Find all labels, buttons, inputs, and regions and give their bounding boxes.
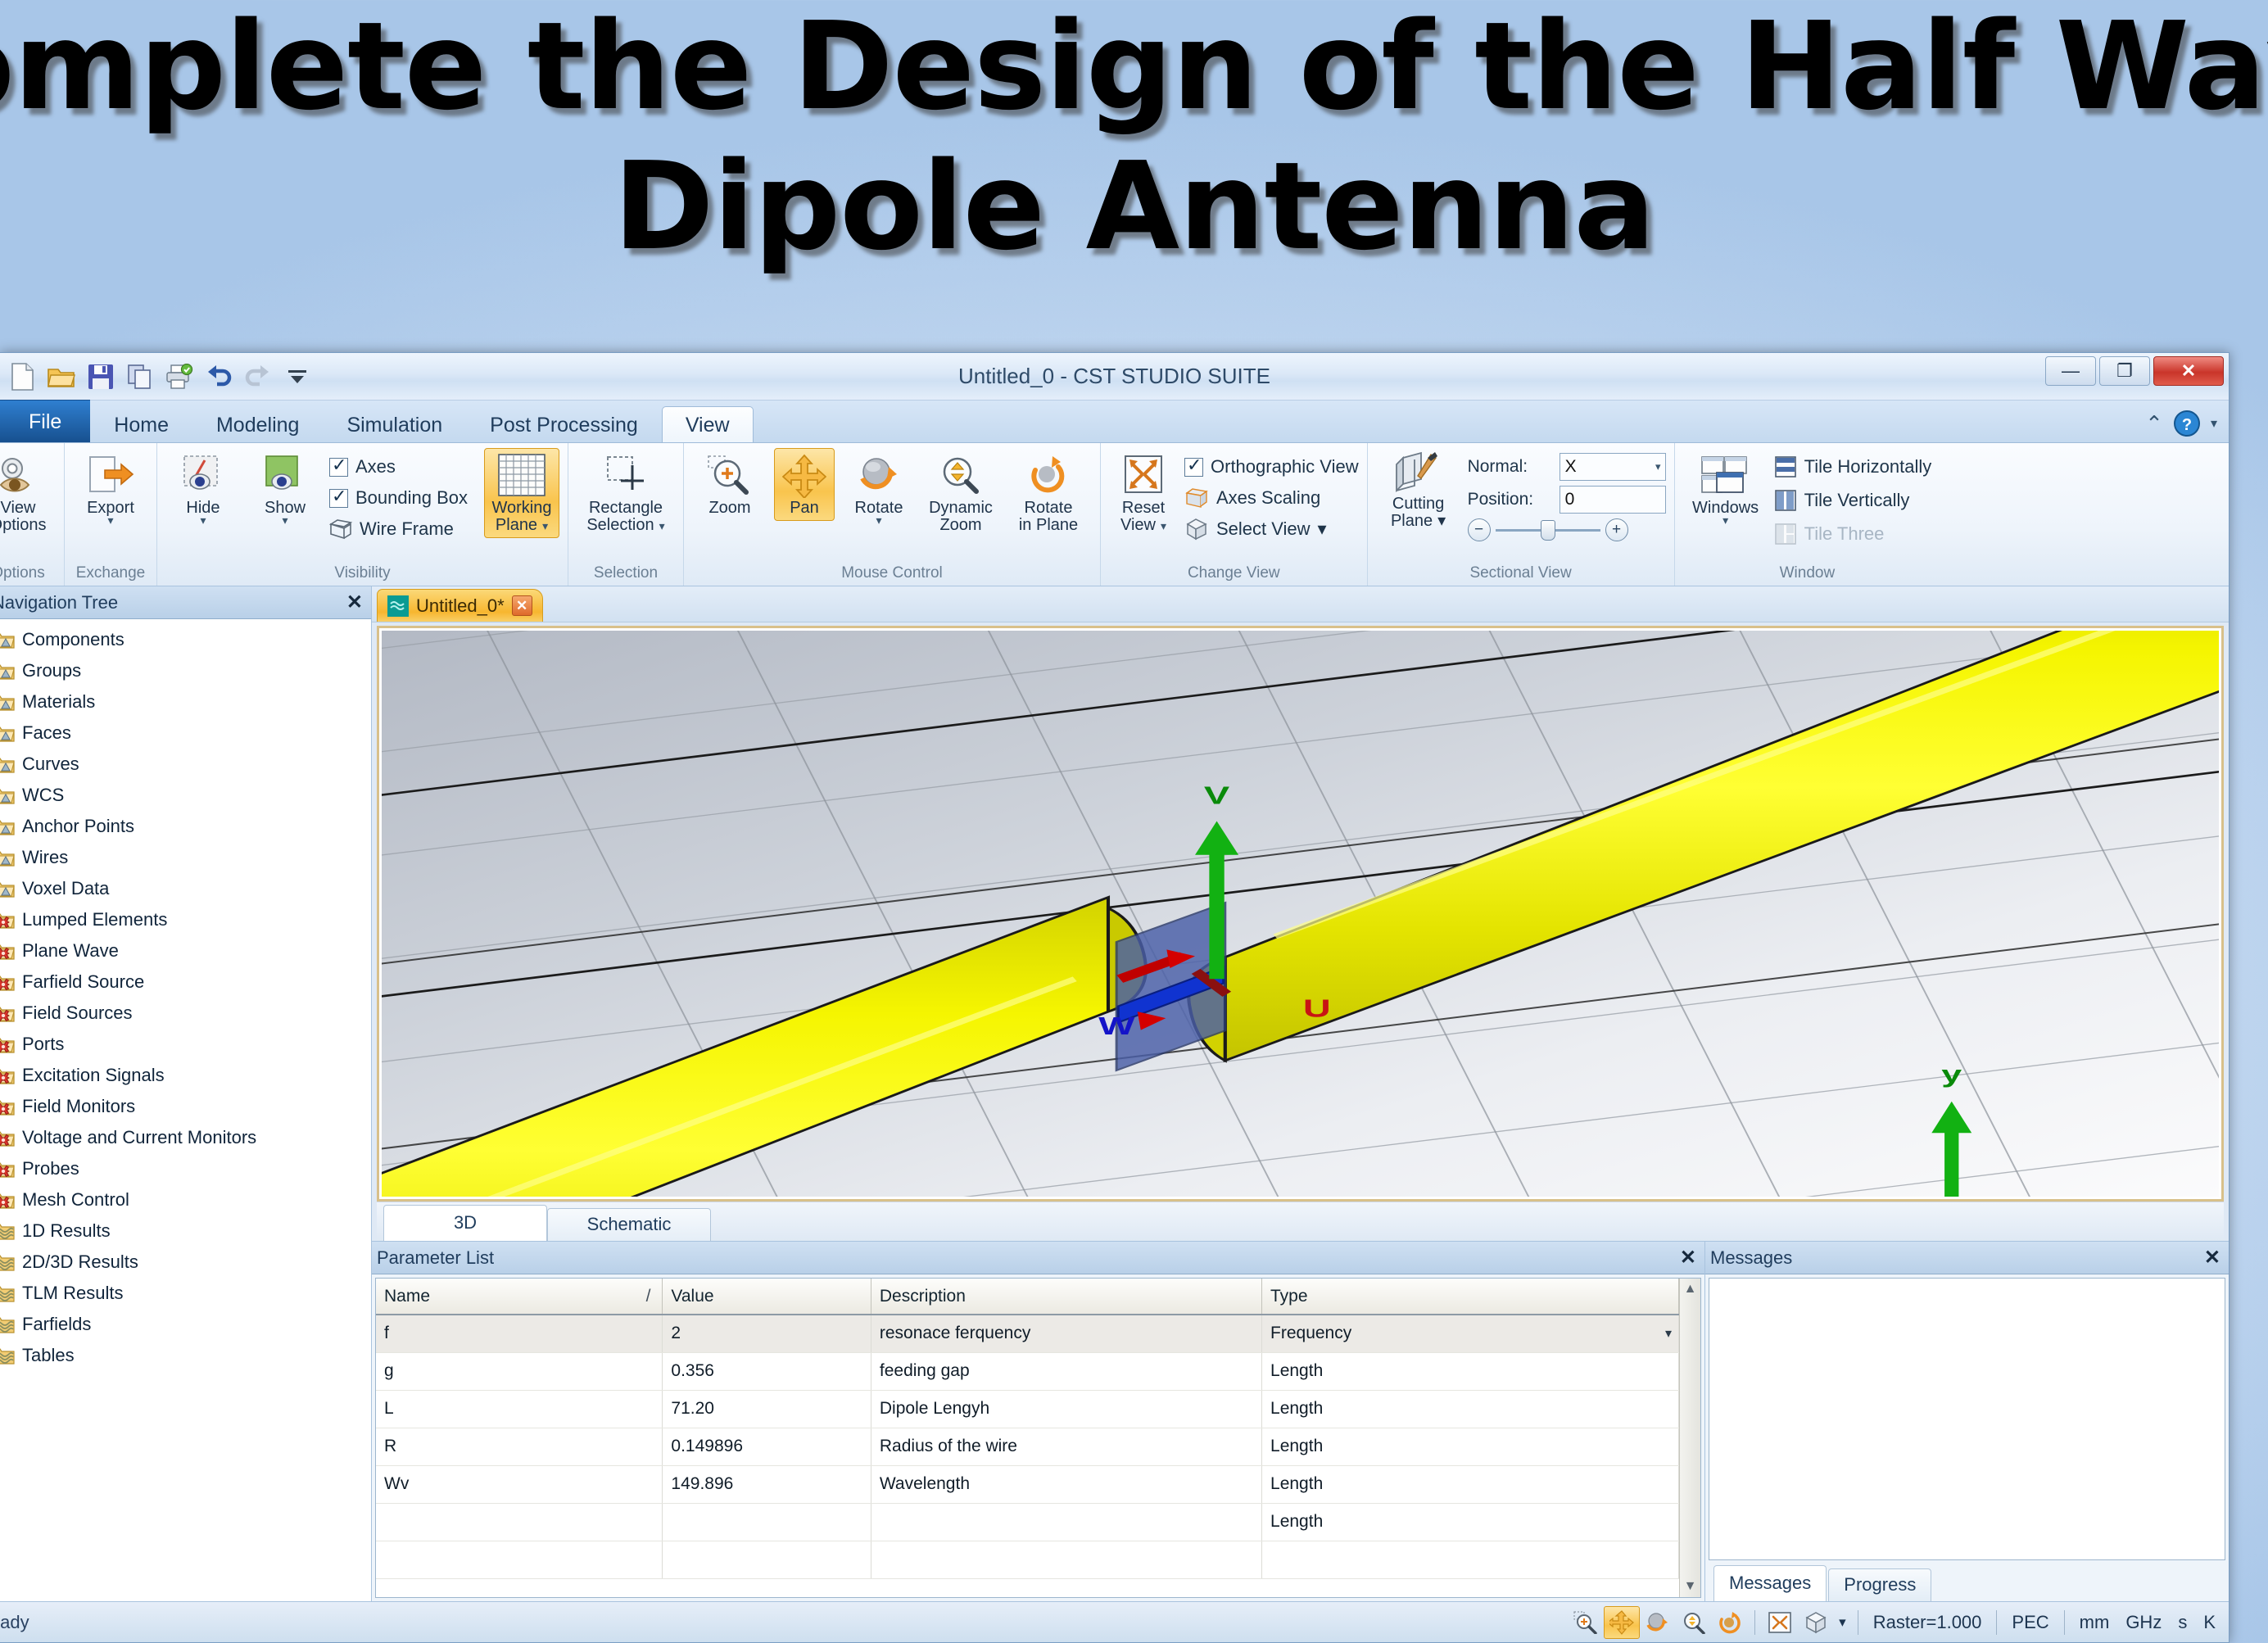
folder-icon [0,786,15,805]
gear-icon [0,911,15,930]
scroll-up-icon[interactable]: ▲ [1684,1279,1697,1300]
tree-item-farfield-source[interactable]: Farfield Source [0,966,371,998]
collapse-ribbon-icon[interactable]: ⌃ [2145,411,2163,437]
parameter-name-cell[interactable] [376,1541,663,1578]
ribbon-group-window: Windows ▾ Tile Horizontally Tile [1674,443,1940,586]
document-tab-untitled-0[interactable]: Untitled_0* ✕ [377,589,543,622]
parameter-type-cell[interactable] [1262,1541,1679,1578]
help-dropdown-icon[interactable]: ▾ [2211,415,2217,432]
reset-view-label: Reset [1122,500,1165,517]
parameter-value-cell[interactable]: 0.356 [663,1352,871,1390]
navigation-tree-panel: Navigation Tree ✕ Components Groups Mate… [0,586,372,1601]
hide-caret-icon[interactable]: ▾ [200,517,206,523]
ribbon-group-options-label: Options [0,564,56,586]
reset-view-caret-icon[interactable]: ▾ [1161,523,1166,529]
table-row[interactable]: L71.20Dipole LengyhLength [376,1390,1679,1428]
navigation-tree-title: Navigation Tree [0,592,118,613]
slider-rail[interactable] [1496,529,1600,532]
tree-item-label: Excitation Signals [22,1065,165,1086]
ribbon-help-zone: ⌃ ? ▾ [2145,410,2217,437]
tree-item-farfields[interactable]: Farfields [0,1309,371,1340]
results-icon [0,1347,15,1365]
tree-item-label: Ports [22,1034,64,1055]
tree-item-label: Farfields [22,1314,91,1335]
rotate-in-plane-status-icon[interactable] [1712,1606,1748,1639]
progress-tab[interactable]: Progress [1828,1568,1931,1601]
parameter-description-cell[interactable]: Wavelength [871,1465,1261,1503]
parameter-name-cell[interactable]: g [376,1352,663,1390]
navigation-tree-close-icon[interactable]: ✕ [346,591,363,614]
new-icon[interactable] [7,361,38,392]
document-tabbar: Untitled_0* ✕ [372,586,2229,622]
show-caret-icon[interactable]: ▾ [282,517,287,523]
folder-icon [0,755,15,774]
axis-label-y: y [1941,1061,1962,1088]
tree-item-label: Probes [22,1158,79,1179]
dynamic-zoom-icon [937,452,985,500]
gear-icon [0,1129,15,1147]
gear-icon [0,1035,15,1054]
parameter-value-cell[interactable]: 0.149896 [663,1428,871,1465]
main-area: Navigation Tree ✕ Components Groups Mate… [0,586,2229,1601]
column-header-description[interactable]: Description [871,1279,1261,1315]
document-tab-label: Untitled_0* [416,595,505,617]
window-titlebar: Untitled_0 - CST STUDIO SUITE — ❐ ✕ [0,353,2229,401]
view-options-label2: Options [0,517,46,534]
parameter-table-wrapper: Name / Value Description Type f2resonace… [375,1278,1701,1598]
customize-qat-icon[interactable] [282,361,313,392]
orthographic-view-label: Orthographic View [1211,456,1359,478]
tree-item-curves[interactable]: Curves [0,749,371,780]
rectangle-selection-label2: Selection [586,517,654,534]
status-material[interactable]: PEC [2003,1612,2057,1633]
parameter-description-cell[interactable]: Dipole Lengyh [871,1390,1261,1428]
parameter-name-cell[interactable]: R [376,1428,663,1465]
tree-item-components[interactable]: Components [0,624,371,655]
dynamic-zoom-button[interactable]: Dynamic Zoom [923,448,998,538]
table-row[interactable] [376,1541,1679,1578]
zoom-label: Zoom [708,500,750,517]
tree-item-label: 1D Results [22,1220,111,1242]
dynamic-zoom-status-icon[interactable] [1676,1606,1712,1639]
parameter-name-cell[interactable]: Wv [376,1465,663,1503]
folder-icon [0,662,15,681]
ribbon-view-tab: View Options Options Export ▾ [0,443,2229,586]
tree-item-label: Voxel Data [22,878,109,899]
tree-item-2d-3d-results[interactable]: 2D/3D Results [0,1247,371,1278]
scroll-down-icon[interactable]: ▼ [1684,1576,1697,1597]
change-view-check-column: Orthographic View Axes Scaling Select Vi… [1184,448,1359,545]
messages-body[interactable] [1709,1278,2225,1560]
tree-item-label: Farfield Source [22,971,144,993]
rotate-icon [856,452,902,500]
gear-icon [0,1004,15,1023]
parameter-value-cell[interactable]: 149.896 [663,1465,871,1503]
zoom-status-icon[interactable] [1568,1606,1604,1639]
table-row[interactable]: g0.356feeding gapLength [376,1352,1679,1390]
tree-item-voltage-and-current-monitors[interactable]: Voltage and Current Monitors [0,1122,371,1153]
tree-item-ports[interactable]: Ports [0,1029,371,1060]
view-options-label1: View [1,500,36,517]
parameter-name-cell[interactable]: L [376,1390,663,1428]
ribbon-tabbar: File Home Modeling Simulation Post Proce… [0,401,2229,443]
select-view-icon [1184,518,1209,541]
ribbon-group-options: View Options Options [0,443,64,586]
working-plane-label1: Working [492,500,552,517]
orthographic-view-checkbox[interactable] [1184,458,1203,477]
tree-item-probes[interactable]: Probes [0,1153,371,1184]
pan-icon [782,452,826,500]
zoom-icon [706,452,754,500]
working-plane-button[interactable]: Working Plane ▾ [484,448,559,538]
parameter-value-cell[interactable] [663,1541,871,1578]
tile-vertically-icon [1775,490,1796,511]
reset-view-icon [1120,452,1166,500]
tab-file[interactable]: File [0,400,90,442]
ribbon-group-change-view-label: Change View [1109,564,1359,586]
tile-horizontally-row[interactable]: Tile Horizontally [1775,451,1932,482]
status-dropdown-icon[interactable]: ▾ [1834,1614,1851,1631]
parameter-value-cell[interactable]: 71.20 [663,1390,871,1428]
select-view-row[interactable]: Select View ▾ [1184,514,1359,545]
tree-item-wires[interactable]: Wires [0,842,371,873]
parameter-description-cell[interactable]: feeding gap [871,1352,1261,1390]
tree-item-field-monitors[interactable]: Field Monitors [0,1091,371,1122]
show-icon [262,452,308,500]
messages-title: Messages [1710,1247,1792,1269]
windows-button[interactable]: Windows ▾ [1683,448,1768,527]
ribbon-group-window-label: Window [1683,564,1932,586]
hide-icon [180,452,226,500]
close-button[interactable]: ✕ [2153,356,2224,386]
slider-minus-button[interactable]: − [1468,518,1491,541]
ribbon-group-change-view: Reset View ▾ Orthographic View [1100,443,1367,586]
tree-item-label: Mesh Control [22,1189,129,1211]
tree-item-label: Anchor Points [22,816,134,837]
visibility-check-column: Axes Bounding Box Wire Frame [329,448,468,545]
parameter-type-cell[interactable]: Length [1262,1390,1679,1428]
tab-modeling[interactable]: Modeling [192,406,323,442]
parameter-table-header-row: Name / Value Description Type [376,1279,1679,1315]
column-header-type[interactable]: Type [1262,1279,1679,1315]
pan-status-icon[interactable] [1604,1606,1640,1639]
parameter-description-cell[interactable] [871,1541,1261,1578]
tree-item-field-sources[interactable]: Field Sources [0,998,371,1029]
mode-tab-3d[interactable]: 3D [383,1205,547,1241]
table-row[interactable]: f2resonace ferquencyFrequency [376,1315,1679,1352]
normal-select[interactable]: X ▾ [1560,453,1666,481]
tree-item-label: Field Monitors [22,1096,135,1117]
folder-icon [0,817,15,836]
gear-icon [0,942,15,961]
rectangle-selection-button[interactable]: Rectangle Selection ▾ [577,448,675,538]
wire-frame-row[interactable]: Wire Frame [329,514,468,545]
tree-item-label: Voltage and Current Monitors [22,1127,256,1148]
tree-item-label: Materials [22,691,95,713]
tree-item-mesh-control[interactable]: Mesh Control [0,1184,371,1215]
svg-text:?: ? [2182,416,2192,434]
copy-icon[interactable] [124,361,156,392]
tile-vertically-row[interactable]: Tile Vertically [1775,485,1932,516]
axis-label-v: V [1204,781,1230,809]
tab-post-processing[interactable]: Post Processing [466,406,662,442]
axes-checkbox-row[interactable]: Axes [329,451,468,482]
normal-chevron-down-icon[interactable]: ▾ [1655,460,1661,473]
table-row[interactable]: Wv149.896WavelengthLength [376,1465,1679,1503]
export-button[interactable]: Export ▾ [73,448,148,527]
dipole-3d-scene: V W U y [382,631,2219,1197]
tree-item-tlm-results[interactable]: TLM Results [0,1278,371,1309]
slider-knob[interactable] [1541,520,1555,541]
folder-icon [0,849,15,867]
pan-label: Pan [790,500,819,517]
parameter-description-cell[interactable] [871,1503,1261,1541]
cutting-plane-caret-icon[interactable]: ▾ [1437,513,1446,530]
select-view-caret-icon[interactable]: ▾ [1318,518,1327,540]
gear-icon [0,973,15,992]
reset-view-status-icon[interactable] [1762,1606,1798,1639]
parameter-name-cell[interactable] [376,1503,663,1541]
messages-tab[interactable]: Messages [1713,1565,1827,1601]
ribbon-group-selection-label: Selection [577,564,675,586]
folder-icon [0,880,15,898]
tab-home[interactable]: Home [90,406,192,442]
rectangle-selection-icon [603,452,649,500]
status-unit-frequency[interactable]: GHz [2117,1612,2170,1633]
table-row[interactable]: Length [376,1503,1679,1541]
normal-value: X [1565,457,1577,477]
messages-panel: Messages ✕ Messages Progress [1704,1242,2229,1601]
tree-item-label: Field Sources [22,1003,133,1024]
results-icon [0,1315,15,1334]
bounding-box-checkbox-row[interactable]: Bounding Box [329,482,468,514]
axes-label: Axes [355,456,396,478]
tree-item-label: 2D/3D Results [22,1251,138,1273]
tree-item-excitation-signals[interactable]: Excitation Signals [0,1060,371,1091]
restore-button[interactable]: ❐ [2099,356,2150,386]
export-caret-icon[interactable]: ▾ [107,517,113,523]
rotate-in-plane-label1: Rotate [1025,500,1073,517]
rotate-caret-icon[interactable]: ▾ [876,517,881,523]
tree-item-faces[interactable]: Faces [0,717,371,749]
minimize-button[interactable]: — [2045,356,2096,386]
tree-item-label: Plane Wave [22,940,119,962]
wireframe-icon [329,518,352,540]
status-bar-right: ▾ Raster=1.000 PEC mm GHz s K [1568,1606,2224,1639]
folder-icon [0,693,15,712]
ribbon-group-visibility: Hide ▾ Show ▾ [156,443,568,586]
reset-view-button[interactable]: Reset View ▾ [1109,448,1178,538]
folder-icon [0,724,15,743]
parameter-table: Name / Value Description Type f2resonace… [376,1279,1679,1579]
tree-item-anchor-points[interactable]: Anchor Points [0,811,371,842]
ribbon-group-mouse-control: Zoom Pan [683,443,1100,586]
tile-horizontally-label: Tile Horizontally [1804,456,1932,478]
normal-label: Normal: [1468,457,1553,477]
results-icon [0,1253,15,1272]
tree-item-materials[interactable]: Materials [0,686,371,717]
parameter-value-cell[interactable] [663,1503,871,1541]
ribbon-group-selection: Rectangle Selection ▾ Selection [568,443,683,586]
pan-button[interactable]: Pan [774,448,835,521]
ribbon-group-sectional-view: Cutting Plane ▾ Normal: X ▾ [1367,443,1674,586]
parameter-type-cell[interactable]: Length [1262,1352,1679,1390]
rotate-status-icon[interactable] [1640,1606,1676,1639]
save-icon[interactable] [85,361,116,392]
messages-close-icon[interactable]: ✕ [2204,1246,2220,1270]
working-plane-icon [496,452,548,500]
wire-frame-label: Wire Frame [360,518,454,540]
status-unit-time[interactable]: s [2170,1612,2195,1633]
tile-three-icon [1775,523,1796,545]
status-unit-length[interactable]: mm [2071,1612,2118,1633]
status-bar: Ready ▾ [0,1601,2229,1642]
viewport-3d[interactable]: V W U y [377,626,2224,1202]
gear-icon [0,1066,15,1085]
rectangle-selection-caret-icon[interactable]: ▾ [659,523,665,529]
slider-plus-button[interactable]: + [1605,518,1628,541]
help-icon[interactable]: ? [2173,410,2201,437]
tree-item-groups[interactable]: Groups [0,655,371,686]
tab-simulation[interactable]: Simulation [323,406,466,442]
redo-icon [242,361,274,392]
tree-item-wcs[interactable]: WCS [0,780,371,811]
parameter-type-cell[interactable]: Length [1262,1503,1679,1541]
window-title: Untitled_0 - CST STUDIO SUITE [0,364,2229,389]
rotate-in-plane-icon [1025,452,1071,500]
cutting-plane-icon [1393,448,1444,496]
tile-horizontally-icon [1775,456,1796,478]
center-area: Untitled_0* ✕ [372,586,2229,1601]
parameter-list-close-icon[interactable]: ✕ [1680,1246,1696,1270]
open-icon[interactable] [46,361,77,392]
mode-tab-schematic[interactable]: Schematic [547,1208,711,1241]
tree-item-lumped-elements[interactable]: Lumped Elements [0,904,371,935]
tree-item-label: WCS [22,785,64,806]
parameter-type-cell[interactable]: Length [1262,1428,1679,1465]
tree-item-label: Faces [22,722,71,744]
ribbon-group-sectional-view-label: Sectional View [1376,564,1666,586]
viewport-wrapper: V W U y [372,622,2229,1241]
axes-scaling-row[interactable]: Axes Scaling [1184,482,1359,514]
undo-icon[interactable] [203,361,234,392]
parameter-list-title: Parameter List [377,1247,494,1269]
parameter-type-cell[interactable]: Length [1262,1465,1679,1503]
table-row[interactable]: R0.149896Radius of the wireLength [376,1428,1679,1465]
print-icon[interactable] [164,361,195,392]
status-bar-divider-1 [1754,1610,1755,1635]
tile-vertically-label: Tile Vertically [1804,490,1910,511]
parameter-list-panel: Parameter List ✕ Name [372,1242,1704,1601]
bounding-box-label: Bounding Box [355,487,468,509]
parameter-table-scrollbar[interactable]: ▲ ▼ [1679,1279,1700,1597]
tree-item-tables[interactable]: Tables [0,1340,371,1371]
results-icon [0,1222,15,1241]
normal-field-row: Normal: X ▾ [1468,453,1666,481]
bounding-box-checkbox[interactable] [329,489,348,508]
slide-title-line2: Dipole Antenna [613,145,1655,269]
tree-item-label: Wires [22,847,68,868]
axes-scaling-icon [1184,487,1209,509]
parameter-name-cell[interactable]: f [376,1315,663,1352]
parameter-type-cell[interactable]: Frequency [1262,1315,1679,1352]
orthographic-view-row[interactable]: Orthographic View [1184,451,1359,482]
working-plane-caret-icon[interactable]: ▾ [542,523,548,529]
position-label: Position: [1468,490,1553,509]
cutting-plane-slider[interactable]: − + [1468,518,1666,541]
viewport-canvas[interactable]: V W U y [382,631,2219,1197]
position-value: 0 [1565,490,1575,509]
status-bar-divider-4 [2064,1610,2065,1635]
status-unit-temperature[interactable]: K [2195,1612,2224,1633]
reset-view-label2: View [1120,517,1156,534]
show-button[interactable]: Show ▾ [247,448,323,527]
zoom-button[interactable]: Zoom [692,448,767,521]
parameter-description-cell[interactable]: Radius of the wire [871,1428,1261,1465]
slide-title: Complete the Design of the Half Wave Dip… [0,0,2268,344]
window-controls: — ❐ ✕ [2045,356,2224,386]
cutting-plane-label2: Plane [1391,513,1433,530]
tree-item-label: Groups [22,660,81,681]
document-tab-close-icon[interactable]: ✕ [512,595,532,616]
quick-access-toolbar [0,361,313,392]
position-field-row: Position: 0 [1468,486,1666,514]
tree-item-plane-wave[interactable]: Plane Wave [0,935,371,966]
cst-studio-suite-window: Untitled_0 - CST STUDIO SUITE — ❐ ✕ File… [0,352,2230,1643]
navigation-tree-header: Navigation Tree ✕ [0,586,371,619]
tile-three-label: Tile Three [1804,523,1885,545]
ribbon-group-exchange: Export ▾ Exchange [64,443,156,586]
tree-item-1d-results[interactable]: 1D Results [0,1215,371,1247]
rectangle-selection-label1: Rectangle [589,500,663,517]
column-header-name[interactable]: Name / [376,1279,663,1315]
gear-icon [0,1098,15,1116]
tree-item-label: TLM Results [22,1283,123,1304]
status-bar-divider-3 [1996,1610,1997,1635]
select-view-status-icon[interactable] [1798,1606,1834,1639]
parameter-value-cell[interactable]: 2 [663,1315,871,1352]
view-options-button[interactable]: View Options [0,448,56,538]
parameter-description-cell[interactable]: resonace ferquency [871,1315,1261,1352]
ribbon-group-visibility-label: Visibility [165,564,559,586]
status-ready-text: Ready [0,1612,29,1633]
status-bar-divider-2 [1858,1610,1858,1635]
status-raster[interactable]: Raster=1.000 [1865,1612,1990,1633]
windows-caret-icon[interactable]: ▾ [1723,517,1728,523]
ribbon-group-exchange-label: Exchange [73,564,148,586]
bottom-docks: Parameter List ✕ Name [372,1241,2229,1601]
messages-tabbar: Messages Progress [1705,1560,2229,1601]
axes-checkbox[interactable] [329,458,348,477]
axes-scaling-label: Axes Scaling [1216,487,1320,509]
tree-item-label: Curves [22,754,79,775]
gear-icon [0,1191,15,1210]
tile-three-row: Tile Three [1775,518,1932,550]
tree-item-voxel-data[interactable]: Voxel Data [0,873,371,904]
position-input[interactable]: 0 [1560,486,1666,514]
tab-view[interactable]: View [662,406,754,442]
hide-button[interactable]: Hide ▾ [165,448,241,527]
cutting-plane-label1: Cutting [1391,496,1446,513]
rotate-button[interactable]: Rotate ▾ [841,448,917,527]
messages-header: Messages ✕ [1705,1242,2229,1274]
column-header-value[interactable]: Value [663,1279,871,1315]
results-icon [0,1284,15,1303]
windows-icon [1700,452,1752,500]
axis-label-w: W [1098,1012,1135,1040]
rotate-in-plane-button[interactable]: Rotate in Plane [1005,448,1092,538]
tree-item-label: Tables [22,1345,75,1366]
